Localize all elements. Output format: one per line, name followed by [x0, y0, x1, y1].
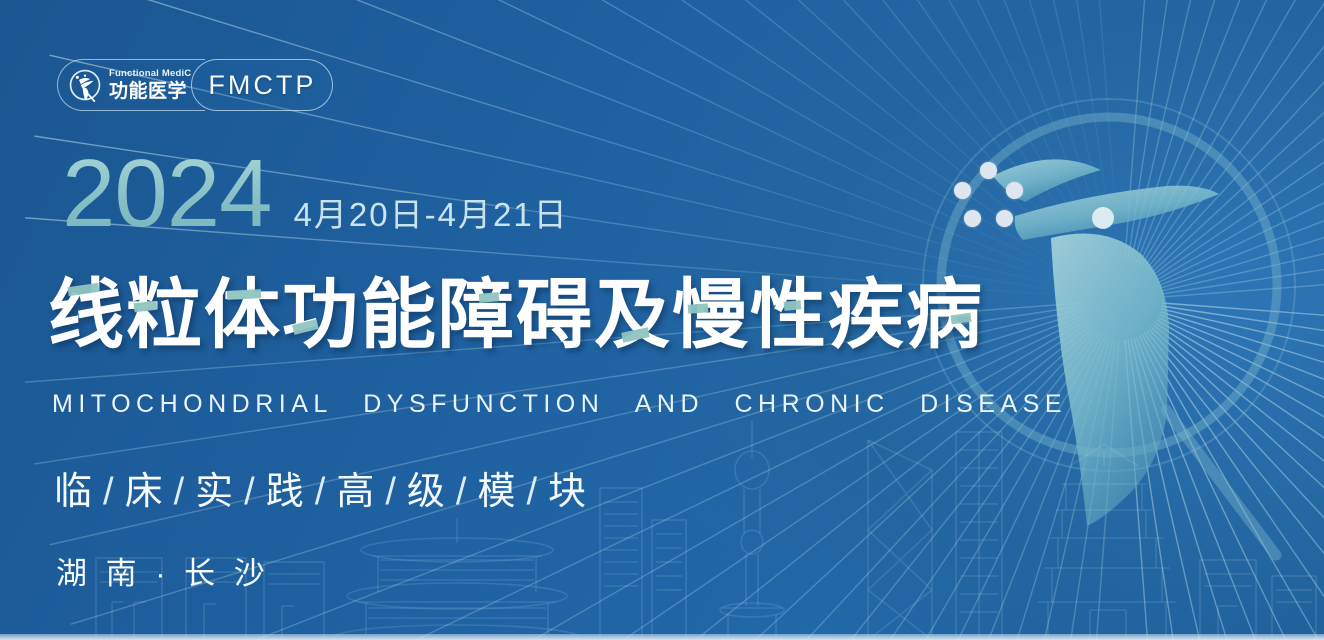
tagline-char-0: 临 [54, 471, 93, 513]
subtitle-word-1: DYSFUNCTION [363, 390, 604, 418]
subtitle-word-gap [704, 390, 734, 418]
subtitle-word-gap [604, 390, 634, 418]
brand-logo-lockup[interactable]: Functional MediC 功能医学 FMCTP [57, 59, 333, 111]
tagline-char-3: 践 [266, 471, 305, 513]
tagline-char-2: 实 [195, 471, 234, 513]
tagline-separator: / [446, 471, 478, 513]
headline-char-10: 疾 [828, 278, 906, 354]
tagline-separator: / [93, 471, 125, 513]
headline-char-5: 障 [438, 278, 516, 354]
headline-char-3: 功 [282, 278, 360, 354]
conference-poster: Functional MediC 功能医学 FMCTP 2024 4月20日-4… [0, 0, 1324, 640]
headline-char-9: 性 [750, 278, 828, 354]
headline-char-2: 体 [204, 278, 282, 354]
poster-content: Functional MediC 功能医学 FMCTP 2024 4月20日-4… [0, 0, 1324, 640]
subtitle-word-2: AND [635, 390, 704, 418]
tagline-separator: / [305, 471, 337, 513]
headline-char-6: 碍 [516, 278, 594, 354]
tagline-char-1: 床 [125, 471, 164, 513]
brand-name-english: Functional MediC [109, 69, 191, 79]
brand-abbreviation-badge[interactable]: FMCTP [191, 59, 333, 111]
brand-logo-text: Functional MediC 功能医学 [109, 69, 191, 101]
subtitle-word-gap [333, 390, 363, 418]
event-headline: 线粒体功能障碍及慢性疾病 [48, 278, 984, 354]
subtitle-word-3: CHRONIC [735, 390, 890, 418]
tagline-char-5: 级 [407, 471, 446, 513]
headline-char-4: 能 [360, 278, 438, 354]
tagline-separator: / [164, 471, 196, 513]
event-year: 2024 [62, 148, 272, 239]
brand-abbreviation-label: FMCTP [208, 70, 316, 101]
brand-name-chinese: 功能医学 [109, 82, 191, 101]
headline-char-0: 线 [48, 278, 126, 354]
headline-char-11: 病 [906, 278, 984, 354]
subtitle-word-gap [890, 390, 920, 418]
tagline-char-6: 模 [477, 471, 516, 513]
tagline-char-7: 块 [548, 471, 587, 513]
tagline-char-4: 高 [336, 471, 375, 513]
headline-char-7: 及 [594, 278, 672, 354]
subtitle-word-0: MITOCHONDRIAL [52, 390, 333, 418]
tagline-separator: / [234, 471, 266, 513]
kingfisher-bird-in-circle-icon [68, 68, 102, 102]
event-module-tagline: 临/床/实/践/高/级/模/块 [54, 460, 587, 515]
event-dates: 4月20日-4月21日 [294, 188, 569, 236]
brand-logo-left: Functional MediC 功能医学 [57, 59, 205, 111]
tagline-separator: / [516, 471, 548, 513]
event-subtitle-english: MITOCHONDRIAL DYSFUNCTION AND CHRONIC DI… [52, 390, 1067, 419]
headline-char-1: 粒 [126, 278, 204, 354]
event-location: 湖 南 · 长 沙 [56, 548, 270, 593]
headline-char-8: 慢 [672, 278, 750, 354]
tagline-separator: / [375, 471, 407, 513]
subtitle-word-4: DISEASE [920, 390, 1067, 418]
event-date-row: 2024 4月20日-4月21日 [62, 148, 569, 239]
